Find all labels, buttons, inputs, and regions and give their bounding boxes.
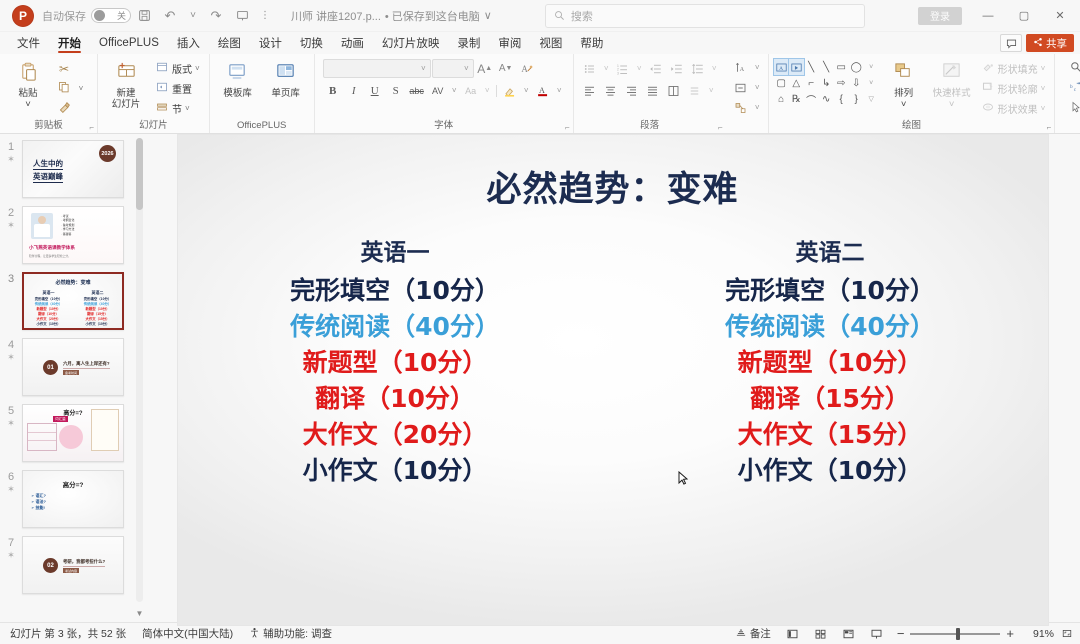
tab-home[interactable]: 开始: [49, 32, 90, 54]
arrange-button[interactable]: 排列 ˅: [881, 59, 927, 110]
chevron-down-icon[interactable]: ∨: [484, 9, 492, 22]
chevron-down-icon[interactable]: ˅: [449, 81, 460, 100]
shapes-gallery[interactable]: A ╲ ╲ ▭ ◯ ˅ ▢ △ ⌐ ↳ ⇨ ⇩ ˅: [774, 59, 879, 107]
callout-shape-icon[interactable]: [789, 59, 804, 75]
autosave-toggle[interactable]: 关: [91, 8, 131, 23]
slide-number-text: 3: [8, 273, 14, 285]
chevron-down-icon[interactable]: ˅: [709, 59, 720, 78]
document-title-area[interactable]: 川师 讲座1207.p... • 已保存到这台电脑 ∨: [291, 8, 492, 24]
shape-effects-button[interactable]: 形状效果 ˅: [977, 99, 1050, 118]
group-label-drawing: 绘图: [902, 119, 921, 133]
layout-label: 版式: [172, 61, 192, 76]
maximize-button[interactable]: ▢: [1006, 1, 1042, 31]
thumbnail-table: [27, 423, 57, 451]
slide-column-english-two[interactable]: 英语二 完形填空（10分） 传统阅读（40分） 新题型（10分） 翻译（15分）…: [613, 233, 1048, 489]
find-button[interactable]: 查找: [1065, 59, 1080, 78]
search-icon: [1069, 61, 1080, 76]
current-slide[interactable]: 必然趋势：变难 英语一 完形填空（10分） 传统阅读（40分） 新题型（10分）…: [178, 135, 1048, 625]
chevron-down-icon[interactable]: ˅: [25, 99, 31, 110]
new-slide-label-line2: 幻灯片: [112, 99, 141, 110]
document-save-state: • 已保存到这台电脑: [385, 8, 480, 24]
align-right-button[interactable]: [622, 81, 642, 100]
convert-to-smartart-button[interactable]: [731, 98, 751, 117]
powerpoint-logo-icon: P: [12, 5, 34, 27]
more-commands-icon[interactable]: ⋮: [256, 4, 274, 28]
slide-number-text: 2: [8, 207, 14, 219]
svg-text:A: A: [521, 64, 528, 74]
editing-buttons: 查找 bc 替换 ˅ 选择 ˅: [1065, 59, 1080, 118]
ribbon-group-font: ˅ ˅ A▲ A▼ A B I U S: [314, 54, 573, 133]
slide-number-text: 6: [8, 471, 14, 483]
freeform-shape-icon[interactable]: ⌒: [804, 91, 819, 107]
notes-label: 备注: [750, 626, 771, 641]
zoom-track[interactable]: [910, 633, 1000, 635]
tab-slideshow[interactable]: 幻灯片放映: [373, 32, 449, 54]
font-row-2: B I U S abc AV ˅ Aa ˅ ˅ A: [323, 81, 565, 100]
animation-star-icon: ✶: [0, 153, 22, 165]
slide-body-columns: 英语一 完形填空（10分） 传统阅读（40分） 新题型（10分） 翻译（10分）…: [178, 233, 1048, 489]
text-shadow-button[interactable]: S: [386, 81, 406, 100]
scribble-shape-icon[interactable]: ∿: [819, 91, 834, 107]
paste-button[interactable]: 粘贴 ˅: [5, 59, 51, 110]
chevron-down-icon[interactable]: ˅: [752, 58, 763, 77]
columns-button[interactable]: [664, 81, 684, 100]
align-text-button[interactable]: [731, 78, 751, 97]
slide-number: 5 ✶: [0, 404, 22, 429]
cut-button[interactable]: ✂: [53, 59, 92, 78]
rectangle-shape-icon[interactable]: ▭: [834, 59, 849, 75]
slide-number: 1 ✶: [0, 140, 22, 165]
slide-line: 传统阅读（40分）: [613, 309, 1048, 345]
copy-button[interactable]: ˅: [53, 79, 92, 98]
thumbnail-title-block: 人生中的 英语巅峰: [33, 157, 95, 183]
section-label: 节: [172, 101, 182, 116]
reading-view-button[interactable]: [837, 625, 861, 643]
slide-thumbnail[interactable]: 01 六月，离人生上岸还有? 备考时间: [22, 338, 124, 396]
slide-thumbnail-pane[interactable]: 1 ✶ 人生中的 英语巅峰 2026 2: [0, 134, 145, 622]
mouse-cursor-icon: [678, 471, 689, 487]
copy-icon: [57, 81, 71, 96]
col-line: 小作文（10分）: [73, 321, 122, 326]
tab-officeplus[interactable]: OfficePLUS: [90, 32, 168, 54]
scrollbar-thumb[interactable]: [136, 138, 143, 210]
thumbnail-heading: 考研，我都考些什么?: [63, 559, 105, 567]
ribbon-group-clipboard: 粘贴 ˅ ✂ ˅: [0, 54, 97, 133]
strikethrough-button[interactable]: abc: [407, 81, 427, 100]
presentation-view-button[interactable]: [865, 625, 889, 643]
rounded-rectangle-shape-icon[interactable]: ▢: [774, 75, 789, 91]
animation-star-icon: ✶: [0, 351, 22, 363]
chevron-down-icon[interactable]: ˅: [752, 78, 763, 97]
minimize-button[interactable]: —: [970, 1, 1006, 31]
tab-draw[interactable]: 绘图: [209, 32, 250, 54]
smartart-convert-row: ˅: [731, 98, 763, 117]
character-spacing-button[interactable]: AV: [428, 81, 448, 100]
list-item[interactable]: 7 ✶ 02 考研，我都考些什么? 考试内容: [0, 536, 145, 594]
slide-thumbnail[interactable]: · 考试 · 考纲变化 · 备考规划 · 学习方法 · 答疑答 小飞燕英语课教学…: [22, 206, 124, 264]
chevron-down-icon[interactable]: ˅: [706, 81, 717, 100]
share-button[interactable]: 共享: [1026, 34, 1074, 52]
chevron-down-icon[interactable]: ˅: [901, 99, 907, 110]
slide-line: 大作文（20分）: [178, 417, 613, 453]
title-bar: P 自动保存 关 ↶ ˅ ↷ ⋮ 川师 讲座1207.p... • 已保存到这台…: [0, 0, 1080, 32]
notes-icon: [735, 627, 747, 641]
paragraph-dialog-launcher[interactable]: ⌐: [718, 123, 723, 132]
drawing-dialog-launcher[interactable]: ⌐: [1047, 123, 1052, 132]
replace-icon: bc: [1069, 81, 1080, 96]
list-item[interactable]: 2 ✶ · 考试 · 考纲变化 · 备考规划 · 学习方法: [0, 206, 145, 264]
layout-button[interactable]: 版式 ˅: [151, 59, 204, 78]
close-button[interactable]: ✕: [1042, 1, 1078, 31]
col-line: 小作文（10分）: [24, 321, 73, 326]
slide-editor-area[interactable]: 必然趋势：变难 英语一 完形填空（10分） 传统阅读（40分） 新题型（10分）…: [145, 134, 1080, 622]
arrow-line-shape-icon[interactable]: ╲: [819, 59, 834, 75]
thumbnail-graphic: [59, 425, 83, 449]
search-icon: [554, 10, 565, 21]
slide-line: 新题型（10分）: [613, 345, 1048, 381]
tab-insert[interactable]: 插入: [168, 32, 209, 54]
slide-line: 翻译（15分）: [613, 381, 1048, 417]
clear-formatting-button[interactable]: A: [517, 59, 537, 78]
group-label-font: 字体: [434, 119, 453, 133]
layout-icon: [155, 61, 169, 76]
ribbon-group-slides: 新建 幻灯片 版式 ˅ 重置: [97, 54, 209, 133]
slide-thumbnail[interactable]: 人生中的 英语巅峰 2026: [22, 140, 124, 198]
shape-fill-icon: [981, 61, 995, 76]
font-row-1: ˅ ˅ A▲ A▼ A: [323, 59, 537, 78]
italic-button[interactable]: I: [344, 81, 364, 100]
paste-icon: [18, 61, 39, 88]
notes-button[interactable]: 备注: [729, 625, 777, 643]
chevron-down-icon[interactable]: ˅: [1041, 104, 1046, 113]
slide-line: 传统阅读（40分）: [178, 309, 613, 345]
text-direction-button[interactable]: [685, 81, 705, 100]
slide-number: 7 ✶: [0, 536, 22, 561]
animation-star-icon: ✶: [0, 549, 22, 561]
reset-button[interactable]: 重置: [151, 79, 204, 98]
arrange-icon: [893, 61, 914, 88]
shapes-expand-icon[interactable]: ▽: [864, 91, 879, 107]
list-item[interactable]: 3 必然趋势：变难 英语一 完形填空（10分） 传统阅读（40分） 新题型（10…: [0, 272, 145, 330]
column-heading: 英语一: [178, 233, 613, 267]
decrease-indent-button[interactable]: [646, 59, 666, 78]
line-spacing-button[interactable]: [688, 59, 708, 78]
slide-thumbnail[interactable]: 高分=? ➢ 语汇? ➢ 语法? ➢ 技能!: [22, 470, 124, 528]
group-label-clipboard: 剪贴板: [34, 119, 63, 133]
right-brace-shape-icon[interactable]: }: [849, 91, 864, 107]
tab-view[interactable]: 视图: [530, 32, 571, 54]
chevron-down-icon[interactable]: ˅: [634, 59, 645, 78]
slide-number: 4 ✶: [0, 338, 22, 363]
chevron-down-icon[interactable]: ˅: [74, 84, 88, 93]
chevron-down-icon[interactable]: ˅: [482, 81, 493, 100]
decrease-font-size-button[interactable]: A▼: [496, 59, 516, 78]
chevron-down-icon[interactable]: ˅: [185, 104, 190, 113]
smartart-row: A ˅: [731, 58, 763, 77]
flowchart-shape-icon[interactable]: ℞: [789, 91, 804, 107]
thumbnail-sub: 备考时间: [63, 370, 79, 375]
document-name: 川师 讲座1207.p...: [291, 8, 381, 24]
zoom-level-label[interactable]: 91%: [1022, 628, 1054, 640]
thumbnail-sub: 词汇量: [53, 416, 68, 422]
column-heading: 英语二: [613, 233, 1048, 267]
template-library-button[interactable]: 模板库: [215, 59, 261, 99]
elbow-connector-shape-icon[interactable]: ⌐: [804, 75, 819, 91]
cursor-icon: [1069, 101, 1080, 116]
thumbnail-column-2: 英语二 完形填空（10分） 传统阅读（40分） 新题型（10分） 翻译（15分）…: [73, 290, 122, 326]
slide-number: 3: [0, 272, 22, 285]
quick-styles-button[interactable]: 快速样式 ˅: [929, 59, 975, 110]
redo-icon[interactable]: ↷: [204, 4, 228, 28]
thumbnail-title: 高分=?: [23, 479, 123, 489]
thumbnail-sub: 考试内容: [63, 568, 79, 573]
align-text-row: ˅: [731, 78, 763, 97]
toggle-state-label: 关: [117, 9, 126, 22]
paragraph-row-2: ˅: [580, 81, 717, 100]
slide-number: 6 ✶: [0, 470, 22, 495]
paste-label: 粘贴: [18, 88, 37, 99]
ribbon: 粘贴 ˅ ✂ ˅: [0, 54, 1080, 134]
format-painter-button[interactable]: [53, 99, 92, 118]
new-slide-button[interactable]: 新建 幻灯片: [103, 59, 149, 110]
tab-transitions[interactable]: 切换: [291, 32, 332, 54]
thumbnail-bullets: ➢ 语汇? ➢ 语法? ➢ 技能!: [31, 493, 46, 511]
chevron-down-icon[interactable]: ˅: [521, 81, 532, 100]
tab-animations[interactable]: 动画: [332, 32, 373, 54]
pentagon-shape-icon[interactable]: ⌂: [774, 91, 789, 107]
fit-slide-button[interactable]: [1058, 625, 1076, 643]
tab-record[interactable]: 录制: [448, 32, 489, 54]
animation-star-icon: ✶: [0, 483, 22, 495]
chevron-down-icon[interactable]: ˅: [752, 98, 763, 117]
animation-star-icon: ✶: [0, 417, 22, 429]
ribbon-group-officeplus: 模板库 单页库 OfficePLUS: [209, 54, 314, 133]
shape-effects-label: 形状效果: [998, 101, 1038, 116]
thumbnail-caption: 小飞燕英语课教学体系: [29, 245, 75, 251]
chevron-down-icon[interactable]: ˅: [421, 64, 426, 73]
align-left-button[interactable]: [580, 81, 600, 100]
shape-fill-label: 形状填充: [998, 61, 1038, 76]
tab-design[interactable]: 设计: [250, 32, 291, 54]
menubar-right-actions: 共享: [1000, 32, 1080, 54]
thumbnail-title-line2: 英语巅峰: [33, 171, 63, 183]
accessibility-label: 辅助功能: 调查: [263, 626, 332, 641]
ribbon-group-paragraph: ˅ 123 ˅ ˅: [573, 54, 726, 133]
font-size-input[interactable]: ˅: [432, 59, 474, 78]
status-bar: 幻灯片 第 3 张，共 52 张 简体中文(中国大陆) 辅助功能: 调查 备注: [0, 622, 1080, 644]
thumbnail-subcaption: 陪伴全程，让更多学生轻松上分。: [29, 254, 71, 258]
zoom-slider[interactable]: − +: [893, 626, 1018, 641]
autosave-label: 自动保存: [42, 8, 86, 24]
shape-fill-button[interactable]: 形状填充 ˅: [977, 59, 1050, 78]
comments-button[interactable]: [1000, 34, 1022, 52]
svg-text:3: 3: [617, 71, 619, 75]
chevron-down-icon[interactable]: ˅: [1041, 64, 1046, 73]
svg-text:c: c: [1074, 87, 1077, 93]
undo-dropdown-icon[interactable]: ˅: [184, 4, 202, 28]
list-item[interactable]: 6 ✶ 高分=? ➢ 语汇? ➢ 语法? ➢ 技能!: [0, 470, 145, 528]
slides-small-buttons: 版式 ˅ 重置 节 ˅: [151, 59, 204, 118]
search-input[interactable]: 搜索: [545, 4, 865, 28]
thumbnail-section-badge: 02: [43, 558, 58, 573]
zoom-handle[interactable]: [956, 628, 960, 640]
scissors-icon: ✂: [57, 62, 71, 76]
font-dialog-launcher[interactable]: ⌐: [565, 123, 570, 132]
slide-count-status[interactable]: 幻灯片 第 3 张，共 52 张: [4, 625, 132, 643]
slide-thumbnail[interactable]: 02 考研，我都考些什么? 考试内容: [22, 536, 124, 594]
clipboard-dialog-launcher[interactable]: ⌐: [89, 123, 94, 132]
language-status[interactable]: 简体中文(中国大陆): [136, 625, 239, 643]
svg-text:b: b: [1070, 84, 1073, 90]
animation-star-icon: ✶: [0, 219, 22, 231]
align-center-button[interactable]: [601, 81, 621, 100]
slide-number-text: 4: [8, 339, 14, 351]
ribbon-group-editing: 查找 bc 替换 ˅ 选择 ˅: [1054, 54, 1080, 133]
group-label-paragraph: 段落: [640, 119, 659, 133]
shape-outline-button[interactable]: 形状轮廓 ˅: [977, 79, 1050, 98]
slide-number-text: 5: [8, 405, 14, 417]
search-container: 搜索: [492, 4, 918, 28]
thumbnail-heading: 六月，离人生上岸还有?: [63, 361, 110, 369]
slide-line: 小作文（10分）: [178, 453, 613, 489]
slide-number-text: 1: [8, 141, 14, 153]
clipboard-small-buttons: ✂ ˅: [53, 59, 92, 118]
group-label-slides: 幻灯片: [139, 119, 168, 133]
toggle-knob: [94, 10, 105, 21]
divider: [496, 85, 497, 97]
left-brace-shape-icon[interactable]: {: [834, 91, 849, 107]
scroll-down-arrow-icon[interactable]: ▼: [135, 609, 144, 618]
shape-effects-icon: [981, 101, 995, 116]
ribbon-group-paragraph-extras: A ˅ ˅ ˅: [726, 54, 768, 133]
chevron-down-icon[interactable]: ˅: [1041, 84, 1046, 93]
new-slide-icon: [116, 61, 137, 88]
tab-file[interactable]: 文件: [8, 32, 49, 54]
triangle-shape-icon[interactable]: △: [789, 75, 804, 91]
zoom-out-button[interactable]: −: [897, 626, 905, 641]
sign-in-button[interactable]: 登录: [918, 7, 962, 25]
slide-column-english-one[interactable]: 英语一 完形填空（10分） 传统阅读（40分） 新题型（10分） 翻译（10分）…: [178, 233, 613, 489]
chevron-down-icon[interactable]: ˅: [601, 59, 612, 78]
bullet: · 答疑答: [61, 232, 74, 236]
save-icon[interactable]: [132, 4, 156, 28]
thumbnail-scrollbar[interactable]: [136, 138, 143, 602]
slide-sorter-button[interactable]: [809, 625, 833, 643]
group-label-officeplus: OfficePLUS: [237, 119, 286, 133]
slide-thumbnail-selected[interactable]: 必然趋势：变难 英语一 完形填空（10分） 传统阅读（40分） 新题型（10分）…: [22, 272, 124, 330]
bullet: ➢ 技能!: [31, 505, 46, 511]
tab-review[interactable]: 审阅: [489, 32, 530, 54]
share-label: 共享: [1046, 36, 1067, 51]
shape-outline-icon: [981, 81, 995, 96]
shapes-more-chevron-icon[interactable]: ˅: [864, 59, 879, 75]
comment-icon: [1006, 38, 1017, 49]
ribbon-tab-bar: 文件 开始 OfficePLUS 插入 绘图 设计 切换 动画 幻灯片放映 录制…: [0, 32, 1080, 54]
svg-text:A: A: [740, 67, 745, 73]
thumbnail-side-panel: [91, 409, 119, 451]
onepage-library-icon: [275, 61, 296, 88]
slide-thumbnail-list: 1 ✶ 人生中的 英语巅峰 2026 2: [0, 134, 145, 594]
slide-title-text[interactable]: 必然趋势：变难: [178, 161, 1048, 212]
bold-button[interactable]: B: [323, 81, 343, 100]
slide-line: 完形填空（10分）: [613, 273, 1048, 309]
template-library-label: 模板库: [223, 88, 252, 99]
slide-line: 新题型（10分）: [178, 345, 613, 381]
underline-button[interactable]: U: [365, 81, 385, 100]
line-shape-icon[interactable]: ╲: [804, 59, 819, 75]
list-item[interactable]: 1 ✶ 人生中的 英语巅峰 2026: [0, 140, 145, 198]
normal-view-button[interactable]: [781, 625, 805, 643]
slide-line: 完形填空（10分）: [178, 273, 613, 309]
bullet: · 学习方法: [61, 227, 74, 231]
format-painter-icon: [57, 101, 71, 117]
select-button[interactable]: 选择 ˅: [1065, 99, 1080, 118]
accessibility-status[interactable]: 辅助功能: 调查: [243, 625, 338, 643]
text-direction-vertical-button[interactable]: A: [731, 58, 751, 77]
text-highlight-color-button[interactable]: [500, 81, 520, 100]
right-arrow-shape-icon[interactable]: ⇨: [834, 75, 849, 91]
thumbnail-column-1: 英语一 完形填空（10分） 传统阅读（40分） 新题型（10分） 翻译（10分）…: [24, 290, 73, 326]
new-slide-label-line1: 新建: [116, 88, 135, 99]
thumbnail-title-line1: 人生中的: [33, 158, 63, 170]
quick-styles-icon: [941, 61, 962, 88]
change-case-button[interactable]: Aa: [461, 81, 481, 100]
reset-label: 重置: [172, 81, 192, 96]
reset-icon: [155, 81, 169, 96]
slide-number-text: 7: [8, 537, 14, 549]
bullets-button[interactable]: [580, 59, 600, 78]
section-button[interactable]: 节 ˅: [151, 99, 204, 118]
list-item[interactable]: 4 ✶ 01 六月，离人生上岸还有? 备考时间: [0, 338, 145, 396]
justify-button[interactable]: [643, 81, 663, 100]
font-name-input[interactable]: ˅: [323, 59, 431, 78]
present-icon[interactable]: [230, 4, 254, 28]
slide-line: 翻译（10分）: [178, 381, 613, 417]
thumbnail-portrait-image: [31, 213, 53, 239]
slide-thumbnail[interactable]: 高分=? 词汇量: [22, 404, 124, 462]
replace-button[interactable]: bc 替换 ˅: [1065, 79, 1080, 98]
down-arrow-shape-icon[interactable]: ⇩: [849, 75, 864, 91]
font-color-button[interactable]: A: [533, 81, 553, 100]
slide-line: 大作文（15分）: [613, 417, 1048, 453]
chevron-down-icon[interactable]: ˅: [195, 64, 200, 73]
undo-icon[interactable]: ↶: [158, 4, 182, 28]
onepage-library-label: 单页库: [271, 88, 300, 99]
chevron-down-icon[interactable]: ˅: [949, 99, 955, 110]
shapes-scroll-down-icon[interactable]: ˅: [864, 75, 879, 91]
tab-help[interactable]: 帮助: [571, 32, 612, 54]
shape-outline-label: 形状轮廓: [998, 81, 1038, 96]
slide-number: 2 ✶: [0, 206, 22, 231]
section-icon: [155, 101, 169, 116]
numbering-button[interactable]: 123: [613, 59, 633, 78]
powerpoint-window: P 自动保存 关 ↶ ˅ ↷ ⋮ 川师 讲座1207.p... • 已保存到这台…: [0, 0, 1080, 644]
oval-shape-icon[interactable]: ◯: [849, 59, 864, 75]
increase-indent-button[interactable]: [667, 59, 687, 78]
chevron-down-icon[interactable]: ˅: [554, 81, 565, 100]
chevron-down-icon[interactable]: ˅: [464, 64, 469, 73]
curved-connector-shape-icon[interactable]: ↳: [819, 75, 834, 91]
svg-text:A: A: [779, 65, 783, 71]
increase-font-size-button[interactable]: A▲: [475, 59, 495, 78]
paragraph-row-1: ˅ 123 ˅ ˅: [580, 59, 720, 78]
template-library-icon: [227, 61, 248, 88]
list-item[interactable]: 5 ✶ 高分=? 词汇量: [0, 404, 145, 462]
thumbnail-title: 必然趋势：变难: [24, 279, 122, 286]
onepage-library-button[interactable]: 单页库: [263, 59, 309, 99]
textbox-shape-icon[interactable]: A: [774, 59, 789, 75]
zoom-in-button[interactable]: +: [1006, 626, 1014, 641]
